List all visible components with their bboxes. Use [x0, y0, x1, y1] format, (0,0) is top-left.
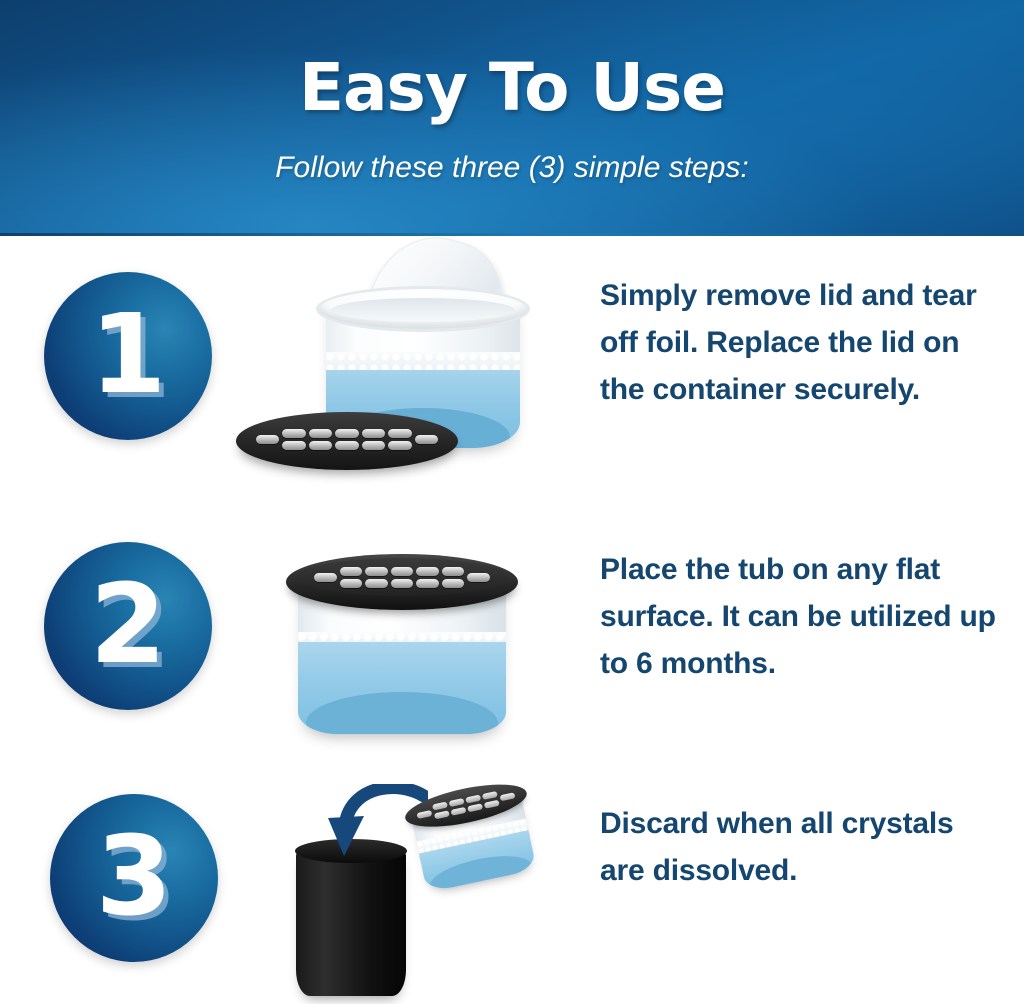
step-caption-2: Place the tub on any flat surface. It ca…	[600, 546, 1000, 687]
vent-slot	[335, 429, 358, 438]
vent-slot	[442, 567, 465, 576]
page-subtitle: Follow these three (3) simple steps:	[0, 150, 1024, 186]
vent-slot	[416, 809, 432, 818]
step-row-3: 3	[0, 772, 1024, 1004]
vent-slot	[432, 802, 448, 811]
step-illustration-2	[268, 540, 538, 748]
step-illustration-3	[282, 778, 562, 1000]
vent-column	[467, 573, 490, 582]
vent-slot	[388, 441, 411, 450]
vent-slot	[335, 441, 358, 450]
step-caption-3: Discard when all crystals are dissolved.	[600, 800, 1000, 894]
vent-slot	[499, 792, 515, 801]
header-banner: Easy To Use Follow these three (3) simpl…	[0, 0, 1024, 236]
liquid-layer	[298, 642, 506, 734]
page-title: Easy To Use	[0, 52, 1024, 124]
vent-column	[465, 794, 483, 812]
lid-vent-grid	[314, 566, 490, 588]
step-illustration-1	[232, 240, 572, 496]
step-row-2: 2 Place the tub on any flat surface. It …	[0, 504, 1024, 772]
vent-column	[314, 573, 337, 582]
step-badge-1: 1	[44, 272, 212, 440]
vent-slot	[451, 807, 467, 816]
vent-column	[499, 792, 515, 801]
vent-slot	[415, 435, 438, 444]
vent-column	[442, 567, 465, 588]
vent-column	[340, 567, 363, 588]
vent-column	[362, 429, 385, 450]
vent-slot	[365, 567, 388, 576]
vent-column	[391, 567, 414, 588]
vent-slot	[482, 791, 498, 800]
vent-slot	[362, 441, 385, 450]
step-number-1: 1	[44, 272, 212, 440]
step-row-1: 1 Simply remove lid and tear	[0, 236, 1024, 504]
vent-slot	[340, 567, 363, 576]
vent-column	[416, 809, 432, 818]
vent-column	[365, 567, 388, 588]
vent-column	[415, 435, 438, 444]
vent-slot	[282, 441, 305, 450]
vent-slot	[484, 800, 500, 809]
vent-slot	[282, 429, 305, 438]
vent-slot	[388, 429, 411, 438]
vented-lid-detached	[236, 412, 458, 470]
vent-column	[432, 802, 450, 820]
vented-lid-attached	[286, 554, 518, 610]
vent-column	[282, 429, 305, 450]
vent-slot	[314, 573, 337, 582]
vent-slot	[362, 429, 385, 438]
step-number-3: 3	[50, 794, 218, 962]
vent-slot	[391, 567, 414, 576]
vent-column	[449, 798, 467, 816]
vent-slot	[465, 794, 481, 803]
step-badge-3: 3	[50, 794, 218, 962]
step-badge-2: 2	[44, 542, 212, 710]
vent-slot	[340, 579, 363, 588]
vent-slot	[467, 573, 490, 582]
vent-column	[256, 435, 279, 444]
vent-slot	[442, 579, 465, 588]
vent-slot	[391, 579, 414, 588]
vent-slot	[449, 798, 465, 807]
lid-top-face	[296, 558, 508, 596]
trash-can	[296, 850, 406, 996]
vent-slot	[416, 567, 439, 576]
vent-column	[416, 567, 439, 588]
vent-slot	[309, 441, 332, 450]
tub-rim-inner	[331, 298, 515, 322]
vent-slot	[309, 429, 332, 438]
vent-slot	[365, 579, 388, 588]
vent-slot	[416, 579, 439, 588]
vent-column	[482, 791, 500, 809]
vent-column	[335, 429, 358, 450]
lid-vent-grid	[256, 422, 438, 456]
tub-rim	[316, 286, 530, 332]
step-caption-1: Simply remove lid and tear off foil. Rep…	[600, 272, 1000, 413]
vent-slot	[434, 810, 450, 819]
step-number-2: 2	[44, 542, 212, 710]
vent-column	[309, 429, 332, 450]
vent-column	[388, 429, 411, 450]
vent-slot	[467, 803, 483, 812]
vent-slot	[256, 435, 279, 444]
